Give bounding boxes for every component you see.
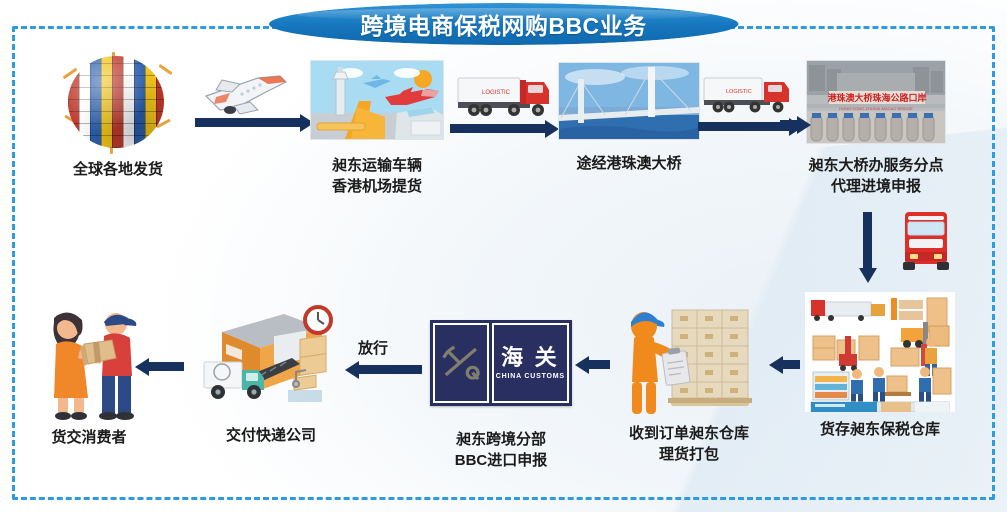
diagram-canvas: 跨境电商保税网购BBC业务 全球各地发货 bbox=[0, 0, 1007, 512]
step-label-7-line1: 昶东跨境分部 bbox=[456, 430, 546, 450]
flow-arrow-1 bbox=[195, 118, 301, 127]
airplane-icon bbox=[196, 62, 292, 124]
china-customs-sign-icon: 海 关 CHINA CUSTOMS bbox=[430, 320, 572, 406]
courier-handover-icon bbox=[30, 300, 148, 420]
title-banner: 跨境电商保税网购BBC业务 bbox=[269, 3, 739, 45]
border-port-photo-icon: 港珠澳大桥珠海公路口岸 HONG KONG-ZHUHAI-MACAO BRIDG… bbox=[806, 60, 946, 144]
step-label-2-line2: 香港机场提货 bbox=[332, 177, 422, 197]
airport-photo-icon bbox=[310, 60, 444, 140]
svg-text:HONG KONG-ZHUHAI-MACAO BRIDGE: HONG KONG-ZHUHAI-MACAO BRIDGE bbox=[839, 106, 913, 111]
step-label-8: 交付快递公司 bbox=[226, 426, 316, 446]
worker-pallet-icon bbox=[614, 296, 764, 418]
customs-english-text: CHINA CUSTOMS bbox=[496, 373, 565, 380]
step-label-6-line2: 理货打包 bbox=[659, 445, 719, 465]
step-node-8[interactable]: 交付快递公司 bbox=[196, 298, 346, 416]
flow-arrow-4 bbox=[780, 120, 798, 129]
step-node-2[interactable]: 昶东运输车辆 香港机场提货 bbox=[310, 60, 444, 140]
step-label-5: 货存昶东保税仓库 bbox=[820, 420, 940, 440]
customs-chinese-text: 海 关 bbox=[501, 347, 560, 369]
page-title: 跨境电商保税网购BBC业务 bbox=[269, 3, 739, 45]
flow-arrow-7 bbox=[588, 360, 610, 369]
step-node-6[interactable]: 收到订单昶东仓库 理货打包 bbox=[614, 296, 764, 418]
truck-side-icon-2: LOGISTIC bbox=[700, 70, 796, 120]
connector-node-2: LOGISTIC bbox=[452, 68, 556, 124]
flow-arrow-9 bbox=[148, 362, 184, 371]
warehouse-collage-icon bbox=[805, 292, 955, 412]
customs-text-pane: 海 关 CHINA CUSTOMS bbox=[492, 323, 569, 403]
flow-arrow-5 bbox=[863, 212, 872, 270]
truck-side-icon: LOGISTIC bbox=[452, 68, 556, 124]
step-label-2-line1: 昶东运输车辆 bbox=[332, 156, 422, 176]
step-node-9[interactable]: 货交消费者 bbox=[30, 300, 148, 420]
flow-arrow-2 bbox=[450, 124, 546, 133]
step-label-6-line1: 收到订单昶东仓库 bbox=[629, 424, 749, 444]
flow-arrow-8 bbox=[358, 365, 422, 374]
step-label-3: 途经港珠澳大桥 bbox=[576, 154, 681, 174]
step-label-4-line1: 昶东大桥办服务分点 bbox=[808, 156, 943, 176]
step-node-4[interactable]: 港珠澳大桥珠海公路口岸 HONG KONG-ZHUHAI-MACAO BRIDG… bbox=[806, 60, 946, 144]
step-label-1: 全球各地发货 bbox=[73, 160, 163, 180]
step-node-3[interactable]: 途经港珠澳大桥 bbox=[558, 62, 700, 140]
step-node-1[interactable]: 全球各地发货 bbox=[62, 52, 174, 152]
flow-arrow-3 bbox=[698, 122, 790, 131]
step-node-5[interactable]: 货存昶东保税仓库 bbox=[805, 292, 955, 412]
bridge-photo-icon bbox=[558, 62, 700, 140]
step-label-9: 货交消费者 bbox=[51, 428, 126, 448]
svg-text:港珠澳大桥珠海公路口岸: 港珠澳大桥珠海公路口岸 bbox=[827, 92, 926, 103]
connector-node-1 bbox=[196, 62, 292, 124]
svg-text:LOGISTIC: LOGISTIC bbox=[726, 89, 752, 95]
flag-globe-icon bbox=[62, 52, 174, 152]
customs-emblem bbox=[433, 323, 489, 403]
connector-node-3: LOGISTIC bbox=[700, 70, 796, 120]
arrow-label-release: 放行 bbox=[358, 337, 388, 358]
flow-arrow-6 bbox=[782, 360, 800, 369]
step-node-7[interactable]: 海 关 CHINA CUSTOMS 昶东跨境分部 BBC进口申报 bbox=[430, 320, 572, 406]
truck-front-icon bbox=[899, 208, 953, 277]
svg-text:LOGISTIC: LOGISTIC bbox=[482, 90, 511, 96]
step-label-4-line2: 代理进境申报 bbox=[831, 177, 921, 197]
logistics-warehouse-icon bbox=[196, 298, 346, 416]
step-label-7-line2: BBC进口申报 bbox=[455, 451, 548, 471]
